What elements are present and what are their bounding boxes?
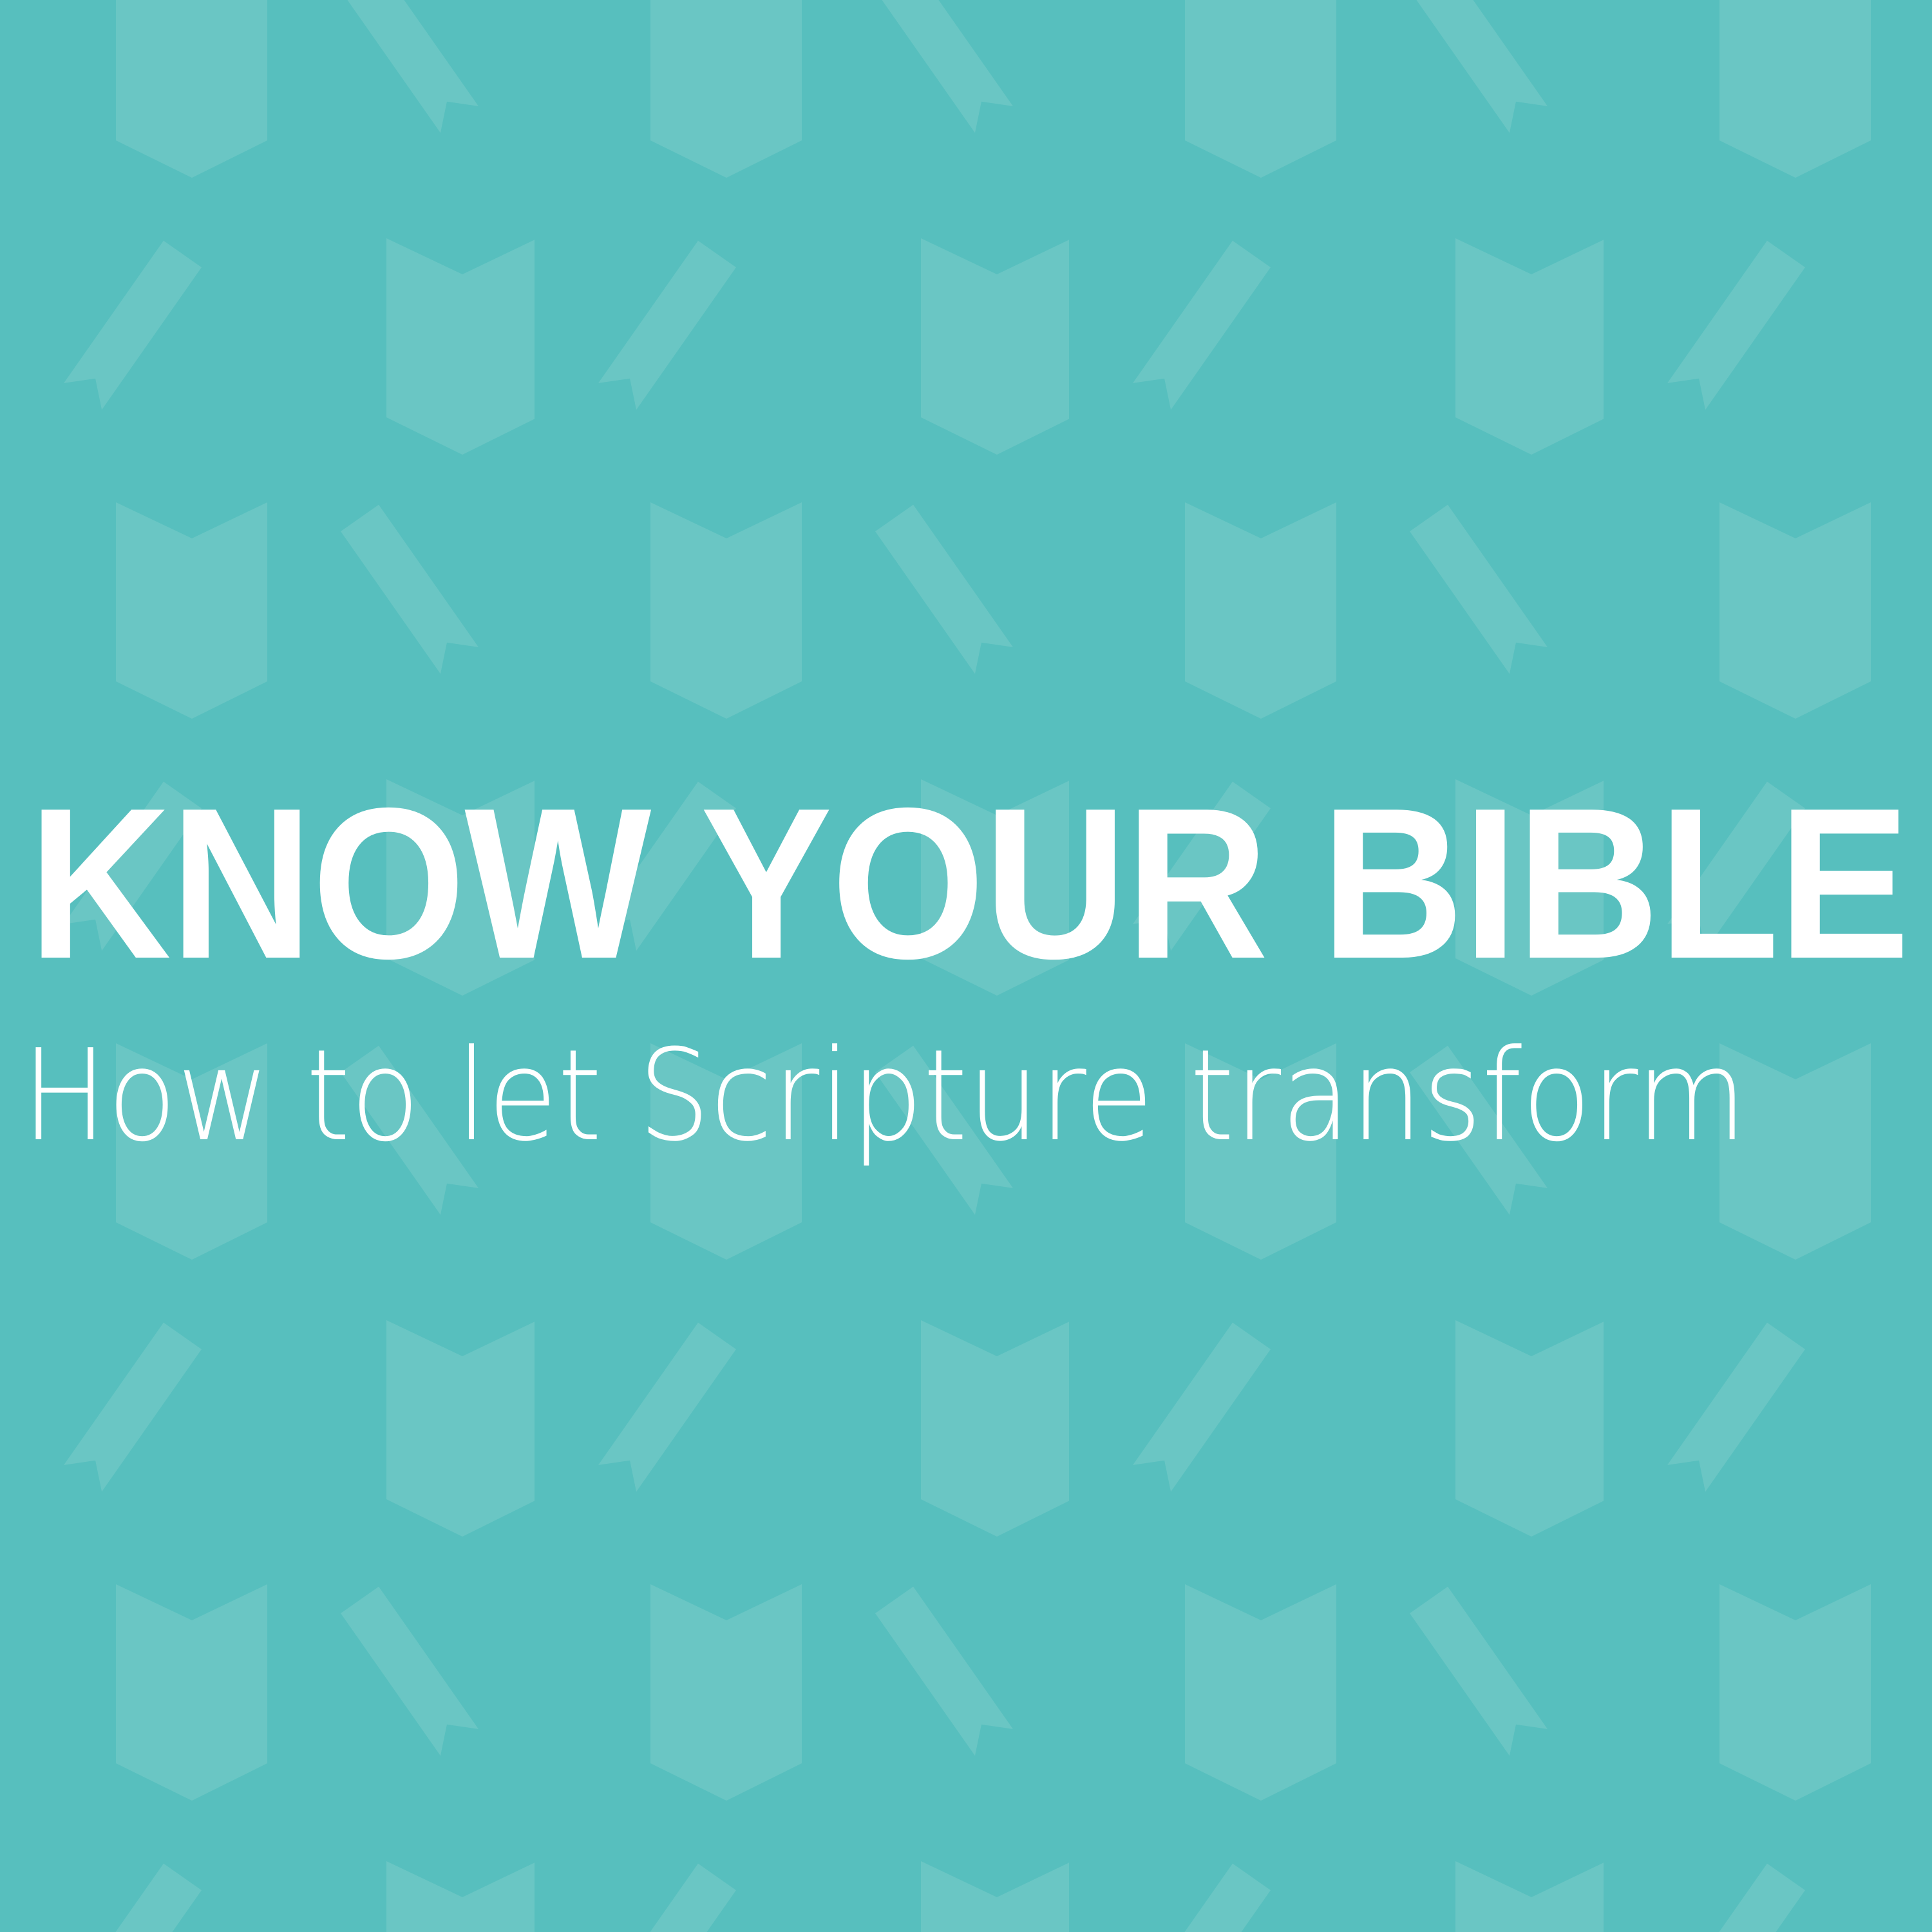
title-card-canvas: KNOW YOUR BIBLE BE How to let Scripture … bbox=[0, 0, 1932, 1932]
title-text-block: KNOW YOUR BIBLE BE How to let Scripture … bbox=[0, 0, 1932, 1932]
headline: KNOW YOUR BIBLE BE bbox=[28, 776, 1932, 991]
subtitle: How to let Scripture transform bbox=[22, 1033, 1747, 1159]
